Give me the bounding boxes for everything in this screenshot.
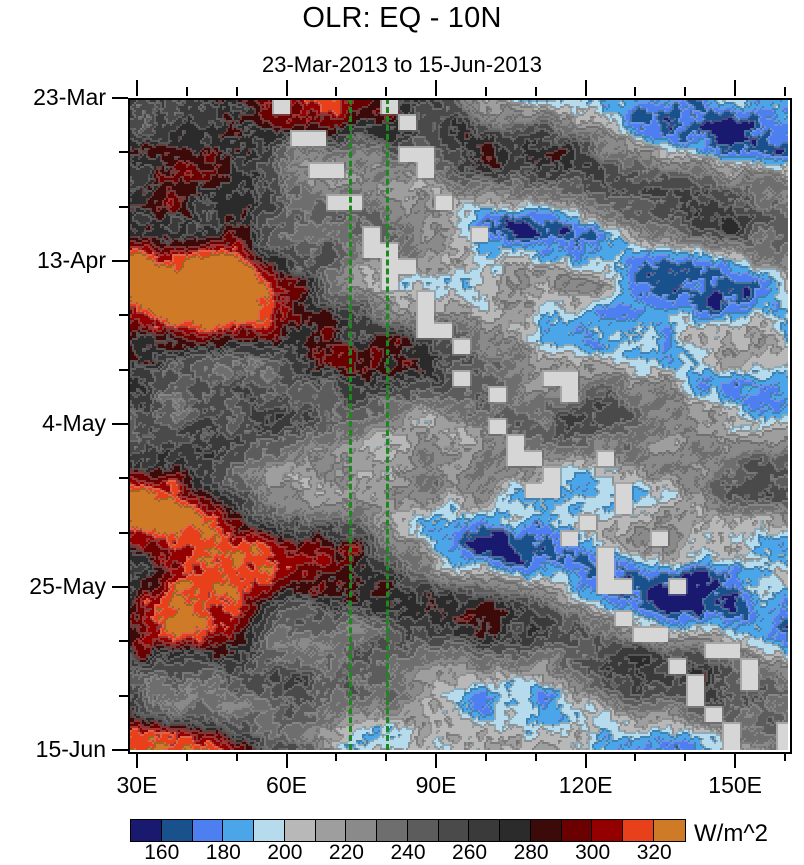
colorbar-tick-label: 320 [614,841,694,865]
colorbar-swatch [500,820,531,841]
chart-subtitle: 23-Mar-2013 to 15-Jun-2013 [0,52,804,78]
colorbar-swatch [654,820,685,841]
colorbar-swatch [223,820,254,841]
x-tick-top [634,87,636,96]
y-tick-major [112,97,128,99]
colorbar [130,819,686,842]
x-tick-label: 90E [376,772,496,799]
colorbar-swatch [623,820,654,841]
green-dashed-line-left [349,98,352,750]
y-tick-label: 13-Apr [2,247,106,274]
x-tick-major [435,752,437,768]
x-tick-major [585,752,587,768]
colorbar-swatch [408,820,439,841]
x-tick-top [286,80,288,96]
y-tick-minor [119,369,128,371]
colorbar-swatch [162,820,193,841]
hovmoller-heatmap [128,98,788,750]
y-tick-major [112,260,128,262]
colorbar-swatch [254,820,285,841]
x-tick-label: 120E [526,772,646,799]
x-tick-label: 150E [675,772,795,799]
y-tick-major [112,749,128,751]
y-tick-label: 25-May [2,573,106,600]
y-tick-minor [119,314,128,316]
x-tick-top [186,87,188,96]
colorbar-swatch [285,820,316,841]
x-tick-top [734,80,736,96]
x-tick-major [286,752,288,768]
colorbar-swatch [592,820,623,841]
y-tick-minor [119,206,128,208]
x-tick-top [385,87,387,96]
x-tick-major [734,752,736,768]
figure-root: OLR: EQ - 10N 23-Mar-2013 to 15-Jun-2013… [0,0,804,863]
x-tick-top [236,87,238,96]
x-tick-top [435,80,437,96]
y-tick-label: 4-May [2,410,106,437]
colorbar-labels: 160180200220240260280300320 [0,841,804,863]
colorbar-swatch [346,820,377,841]
x-tick-major [136,752,138,768]
colorbar-swatch [531,820,562,841]
y-tick-minor [119,695,128,697]
y-tick-label: 15-Jun [2,736,106,763]
x-tick-top [585,80,587,96]
colorbar-swatch [439,820,470,841]
plot-area [128,98,788,750]
y-tick-major [112,423,128,425]
y-tick-minor [119,532,128,534]
x-tick-minor [784,752,786,761]
colorbar-swatch [316,820,347,841]
y-tick-minor [119,151,128,153]
y-tick-minor [119,640,128,642]
x-tick-minor [634,752,636,761]
x-tick-label: 60E [227,772,347,799]
x-tick-top [335,87,337,96]
y-tick-minor [119,477,128,479]
x-tick-minor [335,752,337,761]
x-tick-minor [535,752,537,761]
x-tick-minor [684,752,686,761]
y-tick-major [112,586,128,588]
x-tick-minor [186,752,188,761]
x-tick-label: 30E [77,772,197,799]
y-tick-label: 23-Mar [2,84,106,111]
x-tick-top [485,87,487,96]
x-tick-top [535,87,537,96]
colorbar-swatch [193,820,224,841]
chart-title: OLR: EQ - 10N [0,2,804,35]
green-dashed-line-right [386,98,389,750]
colorbar-swatch [469,820,500,841]
colorbar-swatch [562,820,593,841]
x-tick-minor [385,752,387,761]
x-tick-minor [485,752,487,761]
colorbar-unit-label: W/m^2 [694,820,768,848]
x-tick-minor [236,752,238,761]
x-tick-top [684,87,686,96]
x-tick-top [136,80,138,96]
colorbar-swatch [131,820,162,841]
colorbar-swatch [377,820,408,841]
x-tick-top [784,87,786,96]
